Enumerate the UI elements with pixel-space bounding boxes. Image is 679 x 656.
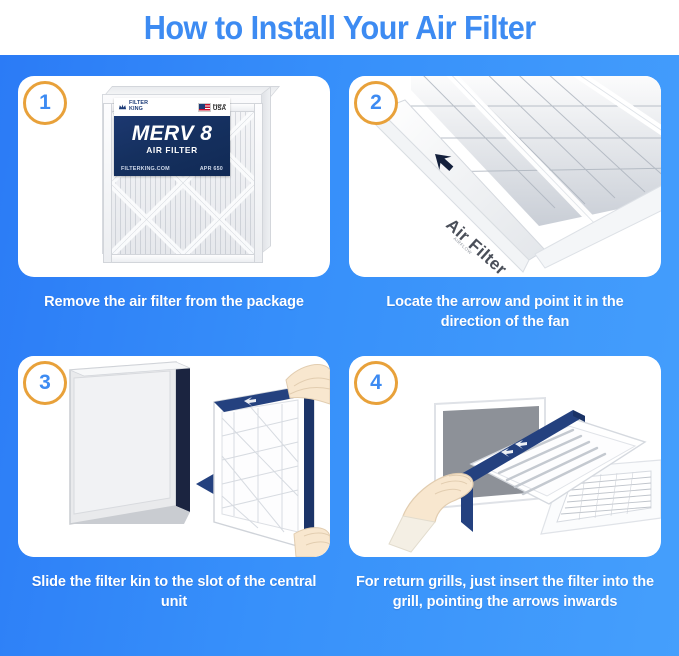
merv-rating: MERV 8	[114, 122, 230, 146]
step-number-4: 4	[370, 372, 382, 393]
step-number-3: 3	[39, 372, 51, 393]
merv8-filter-photo: FILTER KING MADE IN USA	[102, 86, 270, 258]
step-caption-2: Locate the arrow and point it in the dir…	[349, 292, 661, 332]
step-panel-1: FILTER KING MADE IN USA	[18, 76, 330, 277]
country-label: USA	[213, 107, 226, 111]
step-number-badge-2: 2	[354, 81, 398, 125]
filter-frame-left	[103, 103, 112, 263]
infographic-page: How to Install Your Air Filter	[0, 0, 679, 656]
steps-board: FILTER KING MADE IN USA	[0, 55, 679, 656]
filter-product-label: FILTER KING MADE IN USA	[114, 98, 230, 176]
filter-king-logo: FILTER KING	[118, 101, 148, 112]
page-title: How to Install Your Air Filter	[144, 11, 536, 45]
step-caption-3: Slide the filter kin to the slot of the …	[18, 572, 330, 612]
step-number-badge-1: 1	[23, 81, 67, 125]
brand-wordmark: FILTER KING	[129, 101, 148, 112]
made-in-usa-text: MADE IN USA	[213, 103, 226, 112]
brand-line-2: KING	[129, 107, 148, 113]
step-number-badge-3: 3	[23, 361, 67, 405]
step-caption-4: For return grills, just insert the filte…	[349, 572, 661, 612]
website-text: FILTERKING.COM	[121, 166, 170, 172]
filter-frame-bottom	[103, 254, 263, 263]
step-number-1: 1	[39, 92, 51, 113]
step-number-badge-4: 4	[354, 361, 398, 405]
hand-bottom	[294, 528, 330, 557]
step-panel-2: Air Filter AIRFLOW 2	[349, 76, 661, 277]
made-in-usa-mark: MADE IN USA	[198, 103, 226, 112]
label-footer: FILTERKING.COM APR 650	[114, 166, 230, 172]
step-panel-3: 3	[18, 356, 330, 557]
apr-code-text: APR 650	[200, 166, 223, 172]
crown-icon	[118, 103, 127, 112]
step-panel-4: 4	[349, 356, 661, 557]
step-caption-1: Remove the air filter from the package	[18, 292, 330, 312]
header: How to Install Your Air Filter	[0, 0, 679, 55]
product-type-label: AIR FILTER	[114, 145, 230, 155]
us-flag-icon	[198, 103, 211, 112]
label-header-strip: FILTER KING MADE IN USA	[114, 98, 230, 116]
step-number-2: 2	[370, 92, 382, 113]
filter-frame-right	[254, 103, 263, 263]
